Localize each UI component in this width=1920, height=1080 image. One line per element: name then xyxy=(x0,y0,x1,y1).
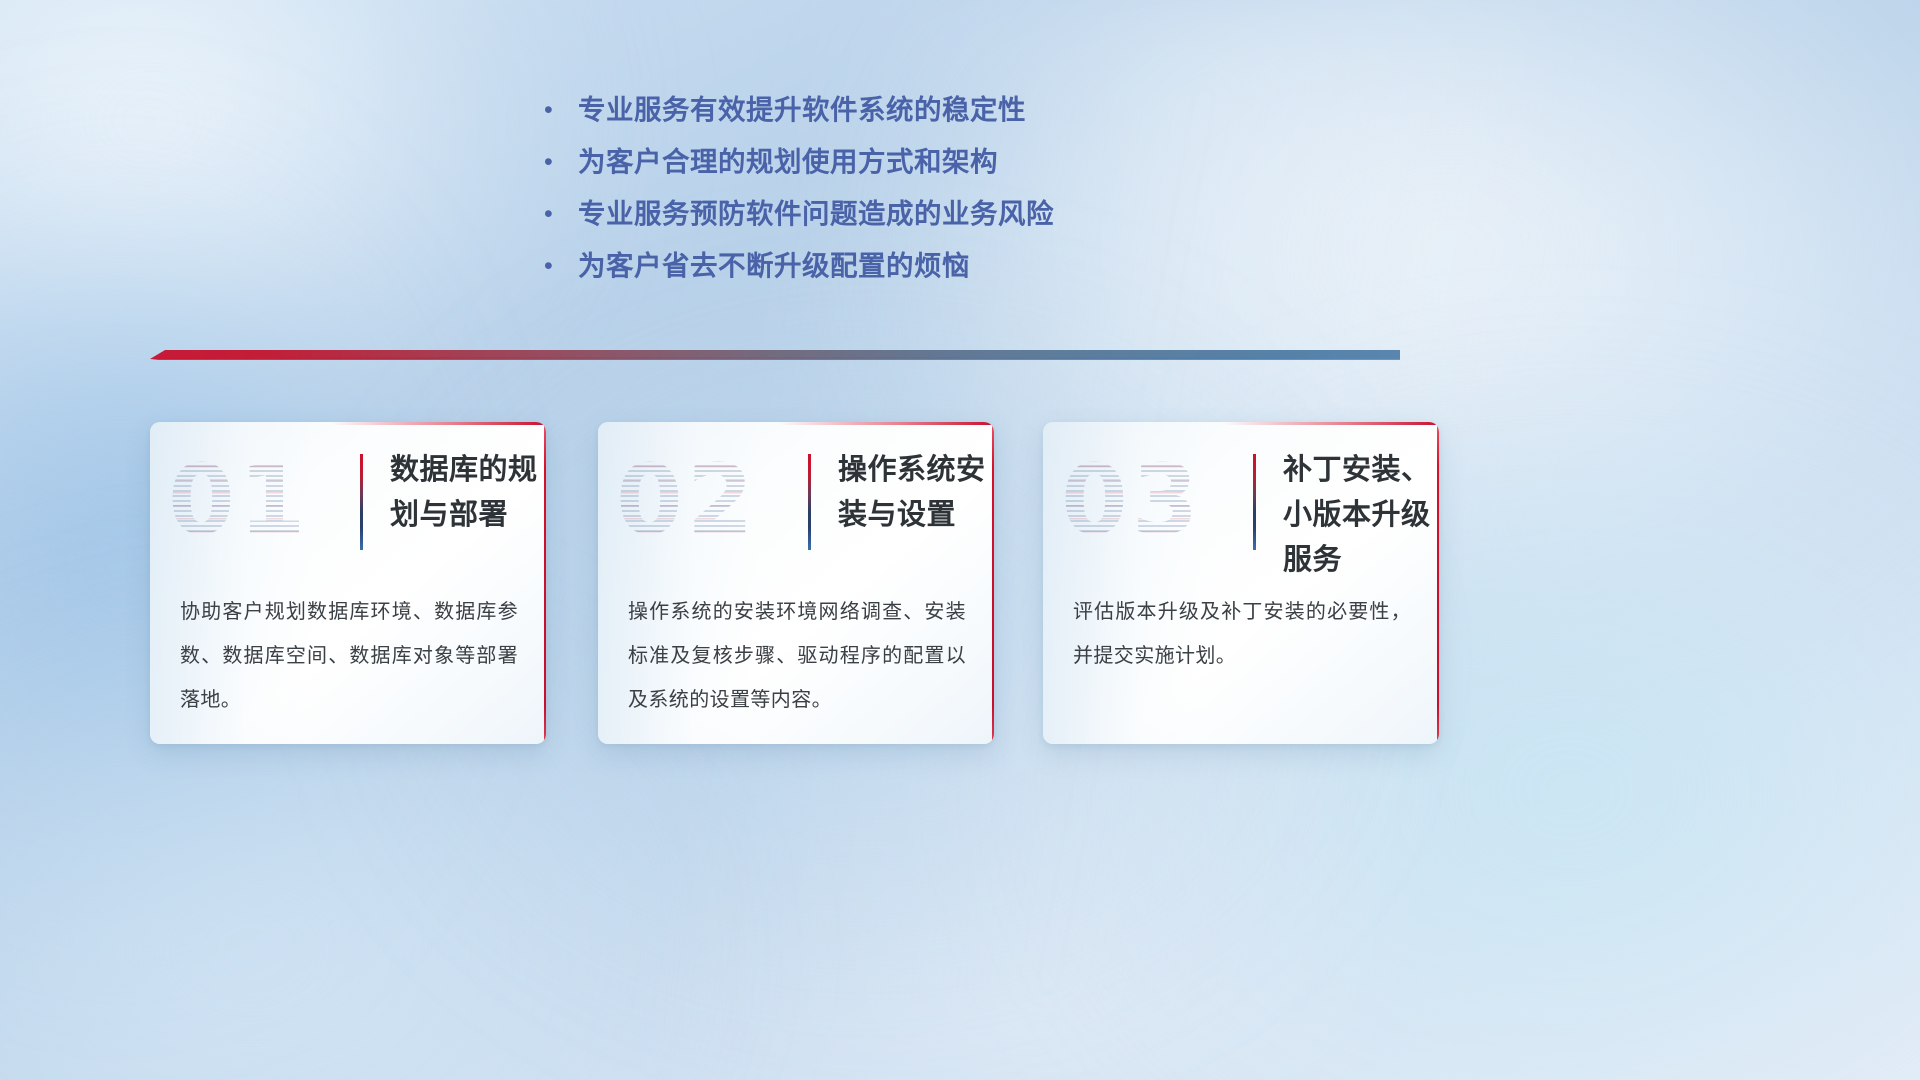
card-header: 02 02 操作系统安装与设置 xyxy=(598,438,994,566)
section-divider xyxy=(150,344,1400,366)
card-body-text: 操作系统的安装环境网络调查、安装标准及复核步骤、驱动程序的配置以及系统的设置等内… xyxy=(628,590,966,722)
list-item: • 专业服务预防软件问题造成的业务风险 xyxy=(544,192,1244,244)
card-title: 数据库的规划与部署 xyxy=(390,448,540,538)
card-body-text: 协助客户规划数据库环境、数据库参数、数据库空间、数据库对象等部署落地。 xyxy=(180,590,518,722)
card-header: 03 03 补丁安装、小版本升级服务 xyxy=(1043,438,1439,566)
card-title: 补丁安装、小版本升级服务 xyxy=(1283,448,1433,583)
service-card-group: 01 01 数据库的规划与部署 协助客户规划数据库环境、数据库参数、数据库空间、… xyxy=(150,422,1460,744)
card-title: 操作系统安装与设置 xyxy=(838,448,988,538)
bullet-dot-icon: • xyxy=(544,244,578,288)
card-number-tint: 01 xyxy=(168,440,310,560)
card-number-tint: 03 xyxy=(1061,440,1203,560)
bullet-text: 为客户合理的规划使用方式和架构 xyxy=(578,140,998,184)
card-title-divider xyxy=(808,454,811,550)
list-item: • 专业服务有效提升软件系统的稳定性 xyxy=(544,88,1244,140)
service-card[interactable]: 03 03 补丁安装、小版本升级服务 评估版本升级及补丁安装的必要性，并提交实施… xyxy=(1043,422,1439,744)
bullet-dot-icon: • xyxy=(544,192,578,236)
card-top-accent xyxy=(779,422,994,425)
card-header: 01 01 数据库的规划与部署 xyxy=(150,438,546,566)
list-item: • 为客户合理的规划使用方式和架构 xyxy=(544,140,1244,192)
card-number-tint: 02 xyxy=(616,440,758,560)
list-item: • 为客户省去不断升级配置的烦恼 xyxy=(544,244,1244,296)
service-card[interactable]: 01 01 数据库的规划与部署 协助客户规划数据库环境、数据库参数、数据库空间、… xyxy=(150,422,546,744)
bullet-dot-icon: • xyxy=(544,88,578,132)
divider-hairline xyxy=(150,357,1400,360)
benefits-bullet-list: • 专业服务有效提升软件系统的稳定性 • 为客户合理的规划使用方式和架构 • 专… xyxy=(544,88,1244,296)
service-card[interactable]: 02 02 操作系统安装与设置 操作系统的安装环境网络调查、安装标准及复核步骤、… xyxy=(598,422,994,744)
card-title-divider xyxy=(360,454,363,550)
bullet-dot-icon: • xyxy=(544,140,578,184)
card-body-text: 评估版本升级及补丁安装的必要性，并提交实施计划。 xyxy=(1073,590,1411,678)
card-title-divider xyxy=(1253,454,1256,550)
bullet-text: 专业服务有效提升软件系统的稳定性 xyxy=(578,88,1026,132)
card-top-accent xyxy=(1224,422,1439,425)
bullet-text: 专业服务预防软件问题造成的业务风险 xyxy=(578,192,1054,236)
card-top-accent xyxy=(331,422,546,425)
bullet-text: 为客户省去不断升级配置的烦恼 xyxy=(578,244,970,288)
